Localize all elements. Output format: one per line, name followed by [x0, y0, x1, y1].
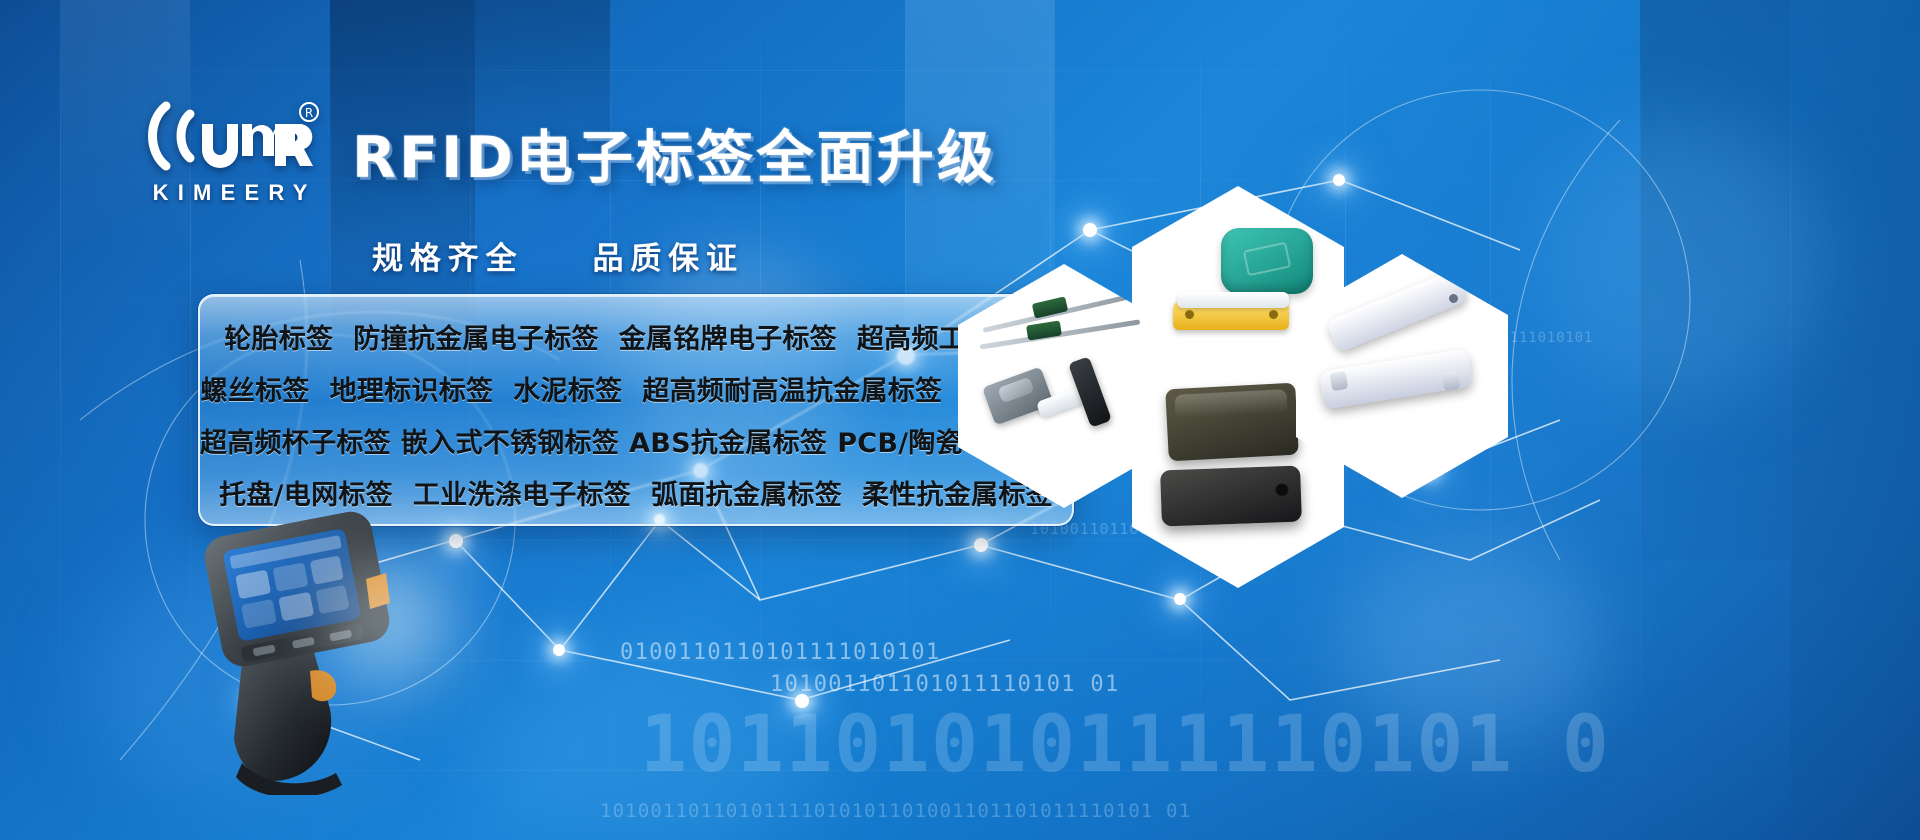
rfid-promo-banner: 1010011011010111101010101 01001101101011…: [0, 0, 1920, 840]
subtitle: 规格齐全 品质保证: [372, 233, 744, 278]
white-flex-tag-lower-notch-right: [1442, 370, 1461, 390]
kimeery-signal-mark: R: [140, 98, 320, 174]
product-row: 超高频杯子标签 嵌入式不锈钢标签 ABS抗金属标签 PCB/陶瓷电子标签: [200, 414, 1072, 466]
brand-wordmark: KIMEERY: [140, 180, 320, 206]
svg-text:R: R: [305, 106, 313, 120]
product-chip[interactable]: 防撞抗金属电子标签: [353, 317, 598, 356]
product-category-panel: 轮胎标签 防撞抗金属电子标签 金属铭牌电子标签 超高频工具标签 螺丝标签 地理标…: [198, 294, 1074, 526]
product-chip[interactable]: 螺丝标签: [201, 369, 310, 408]
bar-tag-hole-right: [1269, 310, 1278, 319]
product-row: 轮胎标签 防撞抗金属电子标签 金属铭牌电子标签 超高频工具标签: [200, 310, 1072, 362]
product-chip[interactable]: 地理标识标签: [330, 369, 494, 408]
bar-tag-hole-left: [1185, 310, 1194, 319]
rod-tag-a-body: [1032, 296, 1069, 318]
product-row: 螺丝标签 地理标识标签 水泥标签 超高频耐高温抗金属标签 硅胶腕带: [200, 362, 1072, 414]
reader-trigger: [310, 670, 336, 701]
registered-trademark-icon: R: [300, 103, 318, 121]
product-chip[interactable]: 水泥标签: [513, 369, 622, 408]
product-chip[interactable]: 工业洗涤电子标签: [413, 473, 631, 512]
product-chip[interactable]: 金属铭牌电子标签: [619, 317, 837, 356]
black-tag-hole: [1275, 482, 1289, 496]
page-title: RFID电子标签全面升级: [352, 112, 997, 194]
brand-logo[interactable]: R KIMEERY: [140, 98, 320, 206]
product-chip[interactable]: 嵌入式不锈钢标签: [401, 421, 619, 460]
reader-glow: [330, 560, 450, 680]
product-chip[interactable]: ABS抗金属标签: [629, 421, 827, 460]
product-chip[interactable]: 超高频耐高温抗金属标签: [642, 369, 942, 408]
black-anti-metal-tag: [1160, 465, 1302, 526]
product-chip[interactable]: 超高频杯子标签: [200, 421, 391, 460]
subtitle-left: 规格齐全: [372, 241, 523, 277]
white-flex-tag-lower-notch-left: [1330, 370, 1349, 390]
product-chip[interactable]: 轮胎标签: [224, 317, 333, 356]
white-bar-tag: [1177, 292, 1289, 308]
subtitle-right: 品质保证: [593, 241, 744, 277]
product-chip[interactable]: 弧面抗金属标签: [651, 473, 842, 512]
